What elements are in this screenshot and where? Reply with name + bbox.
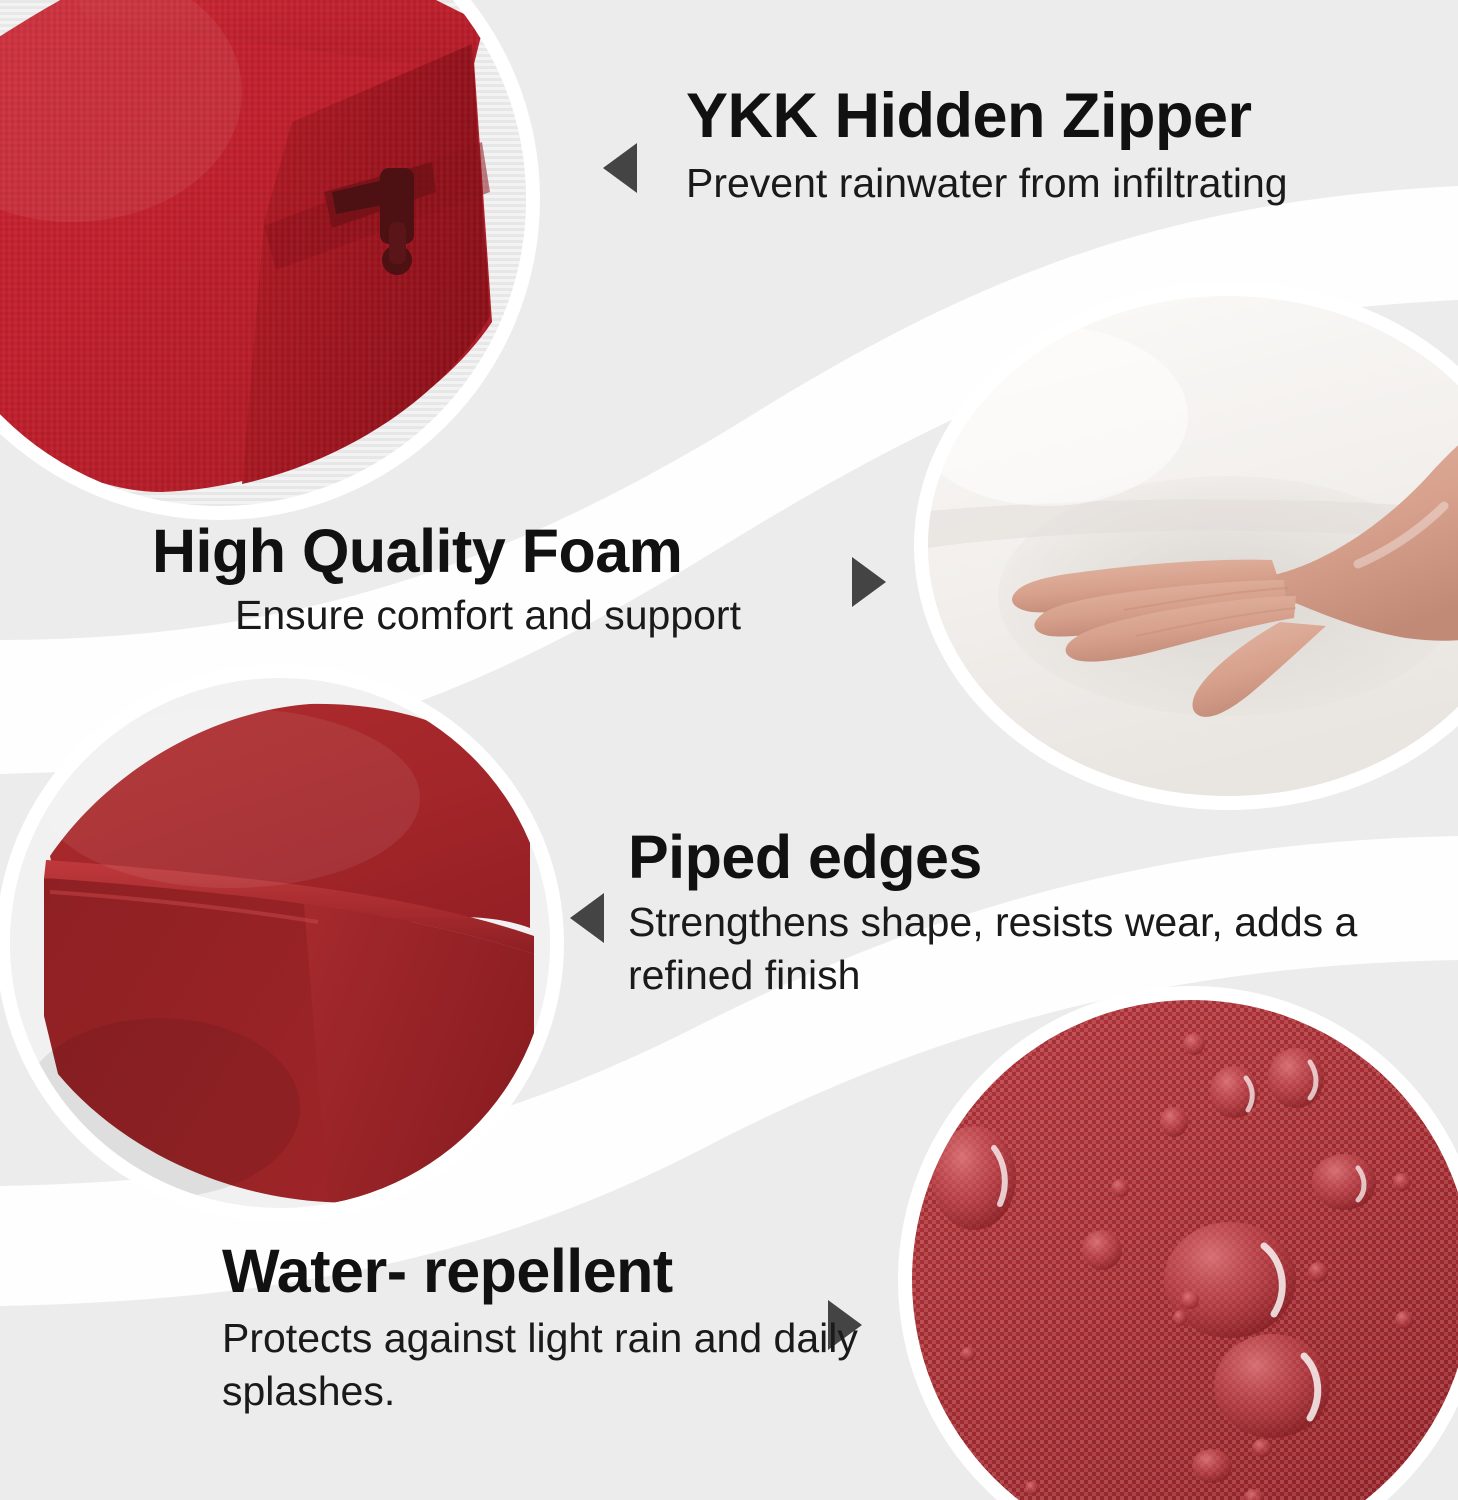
hand-pressing-foam-photo bbox=[928, 296, 1458, 796]
feature-heading-zipper: YKK Hidden Zipper bbox=[686, 84, 1386, 148]
feature-heading-water: Water- repellent bbox=[222, 1240, 862, 1302]
red-cushion-zipper-photo bbox=[0, 0, 526, 506]
feature-block-piped-edges: Piped edges Strengthens shape, resists w… bbox=[628, 826, 1408, 1001]
arrow-left-icon-piped bbox=[570, 893, 604, 943]
feature-block-water-repellent: Water- repellent Protects against light … bbox=[222, 1240, 862, 1417]
piped-edge-cushion-photo bbox=[10, 678, 550, 1208]
feature-heading-foam: High Quality Foam bbox=[152, 520, 852, 582]
feature-block-ykk-hidden-zipper: YKK Hidden Zipper Prevent rainwater from… bbox=[686, 84, 1386, 209]
feature-block-high-quality-foam: High Quality Foam Ensure comfort and sup… bbox=[152, 520, 852, 641]
infographic-canvas: YKK Hidden Zipper Prevent rainwater from… bbox=[0, 0, 1458, 1500]
feature-heading-piped: Piped edges bbox=[628, 826, 1408, 888]
feature-subtext-water: Protects against light rain and daily sp… bbox=[222, 1312, 862, 1417]
feature-subtext-zipper: Prevent rainwater from infiltrating bbox=[686, 158, 1386, 209]
arrow-right-icon-foam bbox=[852, 557, 886, 607]
arrow-left-icon-zipper bbox=[603, 143, 637, 193]
feature-subtext-foam: Ensure comfort and support bbox=[152, 590, 824, 641]
feature-subtext-piped: Strengthens shape, resists wear, adds a … bbox=[628, 896, 1408, 1001]
water-beading-fabric-photo bbox=[912, 1000, 1458, 1500]
